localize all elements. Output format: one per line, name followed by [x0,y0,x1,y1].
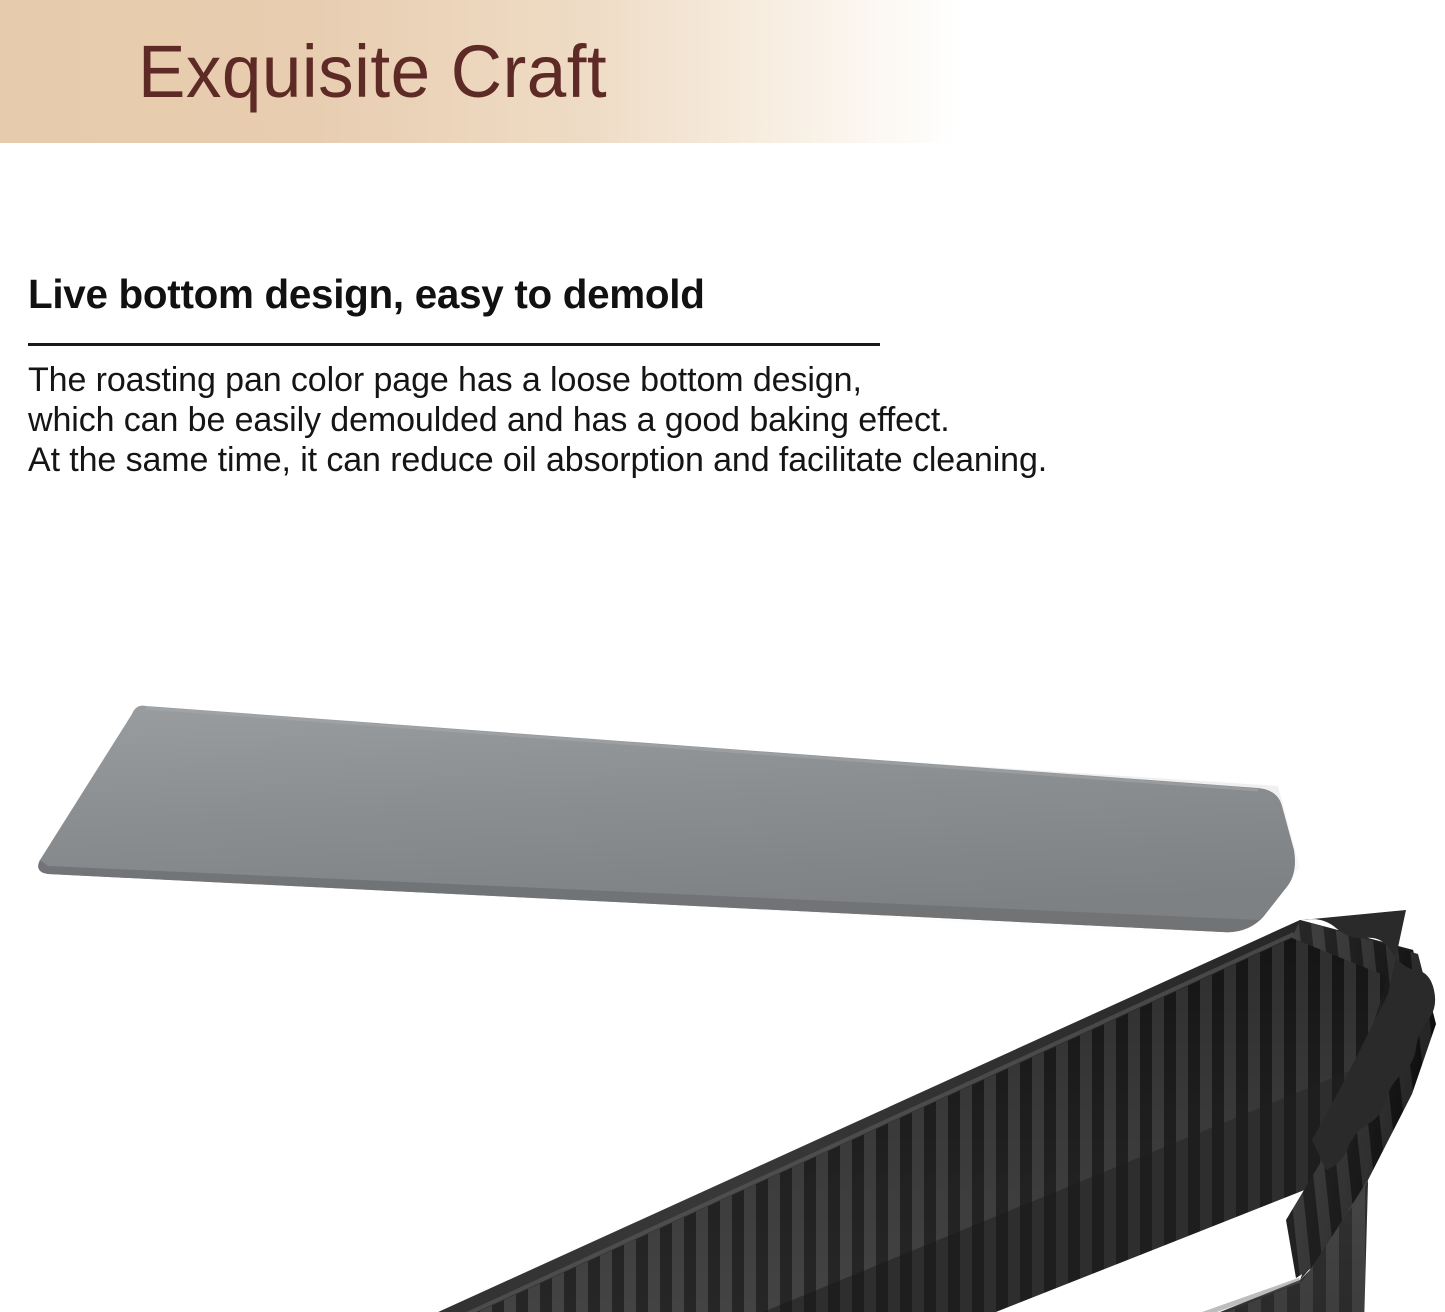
feature-text-block: Live bottom design, easy to demold The r… [28,272,1328,480]
fluted-tart-pan-ring [12,910,1436,1312]
description-line-2: which can be easily demoulded and has a … [28,400,1328,440]
feature-description: The roasting pan color page has a loose … [28,346,1328,480]
banner-title: Exquisite Craft [138,35,607,109]
loose-bottom-plate [38,706,1300,940]
section-heading: Live bottom design, easy to demold [28,272,1309,317]
product-photo [0,620,1445,1312]
description-line-1: The roasting pan color page has a loose … [28,360,1328,400]
description-line-3: At the same time, it can reduce oil abso… [28,440,1328,480]
tart-pan-illustration [0,620,1445,1312]
header-banner: Exquisite Craft [0,0,958,143]
